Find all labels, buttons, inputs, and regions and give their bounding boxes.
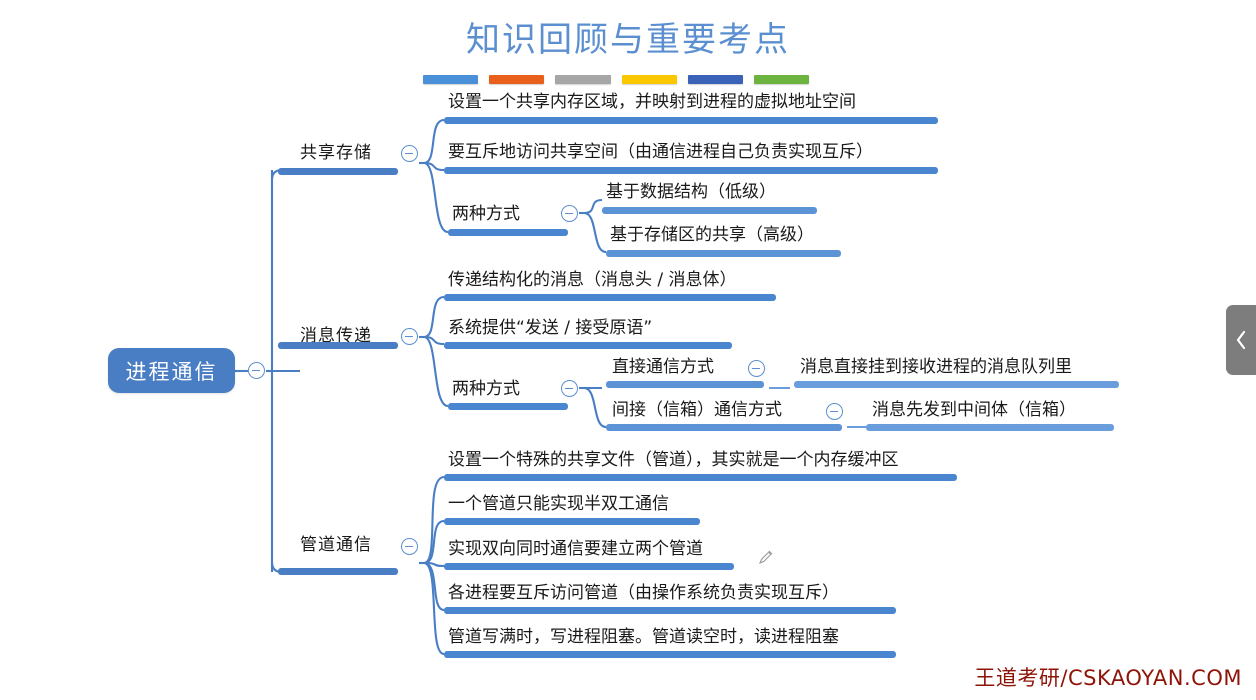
branch-underline-message-passing <box>278 342 398 349</box>
root-node[interactable]: 进程通信 <box>108 348 235 393</box>
toggle-message-passing[interactable] <box>401 328 418 345</box>
leaf-pipe-1[interactable]: 一个管道只能实现半双工通信 <box>448 494 669 515</box>
leaf-underline-pipe-3 <box>444 607 896 614</box>
sub-underline-direct-communication-detail <box>794 381 1119 388</box>
leaf-underline-message-passing-1 <box>444 342 732 349</box>
toggle-shared-storage[interactable] <box>401 145 418 162</box>
leaf-underline-pipe-2 <box>444 563 734 570</box>
leaf-underline-message-passing-2 <box>448 403 568 410</box>
toggle-direct-communication[interactable] <box>748 360 765 377</box>
toggle-indirect-communication[interactable] <box>826 403 843 420</box>
mindmap-canvas: 知识回顾与重要考点 <box>0 0 1256 700</box>
pencil-icon <box>757 548 775 566</box>
sub-message-passing-0[interactable]: 直接通信方式 <box>612 357 714 378</box>
toggle-message-passing-methods[interactable] <box>561 380 578 397</box>
branch-underline-shared-storage <box>278 168 398 175</box>
chevron-left-icon <box>1234 329 1248 351</box>
leaf-shared-storage-0[interactable]: 设置一个共享内存区域，并映射到进程的虚拟地址空间 <box>448 92 856 113</box>
watermark: 王道考研/CSKAOYAN.COM <box>974 662 1242 692</box>
leaf-underline-shared-storage-1 <box>444 167 938 174</box>
branch-underline-pipe-communication <box>278 568 398 575</box>
leaf-underline-shared-storage-2 <box>448 229 568 236</box>
sub-indirect-communication-detail[interactable]: 消息先发到中间体（信箱） <box>872 400 1076 421</box>
bar-yellow <box>622 75 677 84</box>
leaf-underline-message-passing-0 <box>444 294 776 301</box>
leaf-underline-shared-storage-0 <box>444 117 938 124</box>
sub-message-passing-1[interactable]: 间接（信箱）通信方式 <box>612 400 782 421</box>
sub-underline-shared-storage-0 <box>602 207 817 214</box>
leaf-shared-storage-2[interactable]: 两种方式 <box>452 204 520 225</box>
leaf-pipe-4[interactable]: 管道写满时，写进程阻塞。管道读空时，读进程阻塞 <box>448 627 839 648</box>
page-title: 知识回顾与重要考点 <box>0 18 1256 62</box>
branch-label-shared-storage[interactable]: 共享存储 <box>300 143 372 164</box>
sub-shared-storage-1[interactable]: 基于存储区的共享（高级） <box>610 225 814 246</box>
sub-direct-communication-detail[interactable]: 消息直接挂到接收进程的消息队列里 <box>800 357 1072 378</box>
leaf-underline-pipe-4 <box>444 651 896 658</box>
leaf-pipe-3[interactable]: 各进程要互斥访问管道（由操作系统负责实现互斥） <box>448 583 839 604</box>
leaf-message-passing-2[interactable]: 两种方式 <box>452 379 520 400</box>
color-bar-strip <box>423 75 809 84</box>
branch-label-pipe-communication[interactable]: 管道通信 <box>300 535 372 556</box>
bar-orange <box>489 75 544 84</box>
sub-underline-indirect-communication-detail <box>866 424 1114 431</box>
root-node-label: 进程通信 <box>126 356 218 386</box>
bar-blue <box>423 75 478 84</box>
leaf-message-passing-0[interactable]: 传递结构化的消息（消息头 / 消息体） <box>448 270 737 291</box>
leaf-pipe-0[interactable]: 设置一个特殊的共享文件（管道），其实就是一个内存缓冲区 <box>448 450 899 471</box>
toggle-pipe-communication[interactable] <box>401 538 418 555</box>
sub-underline-shared-storage-1 <box>606 250 841 257</box>
bar-gray <box>555 75 610 84</box>
toggle-shared-storage-methods[interactable] <box>561 205 578 222</box>
side-panel-toggle[interactable] <box>1226 305 1256 375</box>
leaf-underline-pipe-1 <box>444 518 700 525</box>
leaf-pipe-2[interactable]: 实现双向同时通信要建立两个管道 <box>448 539 703 560</box>
leaf-underline-pipe-0 <box>444 474 957 481</box>
leaf-message-passing-1[interactable]: 系统提供“发送 / 接受原语” <box>448 318 652 339</box>
bar-navy <box>688 75 743 84</box>
sub-underline-message-passing-0 <box>606 381 764 388</box>
leaf-shared-storage-1[interactable]: 要互斥地访问共享空间（由通信进程自己负责实现互斥） <box>448 142 873 163</box>
toggle-root[interactable] <box>248 362 265 379</box>
sub-shared-storage-0[interactable]: 基于数据结构（低级） <box>606 182 776 203</box>
sub-underline-message-passing-1 <box>606 424 842 431</box>
bar-green <box>754 75 809 84</box>
